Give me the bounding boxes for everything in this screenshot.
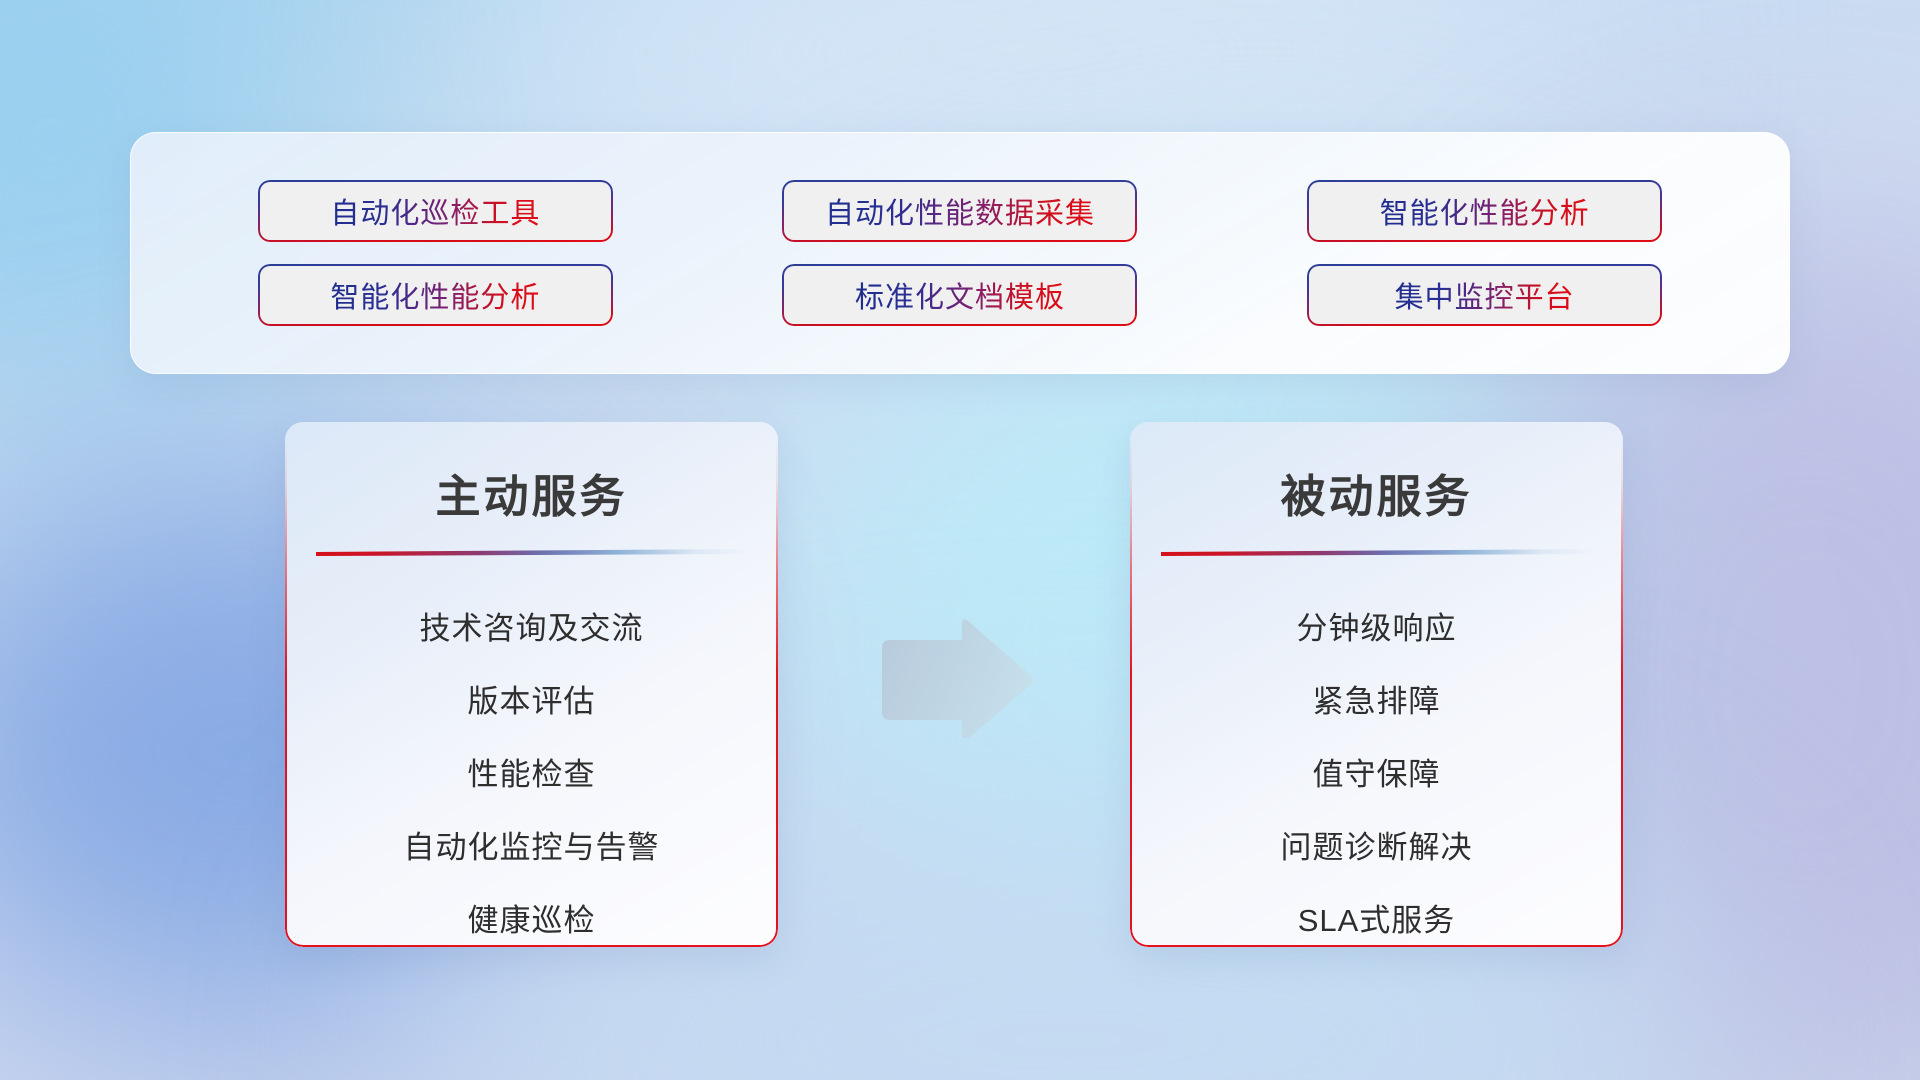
capability-pill-label: 智能化性能分析 xyxy=(1380,190,1590,232)
arrow-right-icon xyxy=(878,618,1036,738)
service-item: 技术咨询及交流 xyxy=(305,592,758,665)
service-item: 分钟级响应 xyxy=(1150,592,1603,665)
capability-pill[interactable]: 集中监控平台 xyxy=(1307,264,1662,326)
service-item: 值守保障 xyxy=(1150,738,1603,811)
card-divider xyxy=(316,549,748,556)
card-title: 主动服务 xyxy=(305,460,758,525)
service-item: 紧急排障 xyxy=(1150,665,1603,738)
capability-pill-label: 自动化巡检工具 xyxy=(330,190,540,232)
service-item: 问题诊断解决 xyxy=(1150,811,1603,884)
service-card-reactive: 被动服务 分钟级响应 紧急排障 值守保障 问题诊断解决 SLA式服务 xyxy=(1130,422,1623,947)
service-card-proactive: 主动服务 技术咨询及交流 版本评估 性能检查 自动化监控与告警 健康巡检 xyxy=(285,422,778,947)
service-item-list: 技术咨询及交流 版本评估 性能检查 自动化监控与告警 健康巡检 xyxy=(305,592,758,947)
capability-pill-label: 集中监控平台 xyxy=(1395,274,1575,316)
capability-pill[interactable]: 智能化性能分析 xyxy=(1307,180,1662,242)
service-item: 自动化监控与告警 xyxy=(305,811,758,884)
service-item: 健康巡检 xyxy=(305,884,758,947)
capability-pill-label: 自动化性能数据采集 xyxy=(825,190,1095,232)
service-item: 版本评估 xyxy=(305,665,758,738)
capability-pill[interactable]: 自动化性能数据采集 xyxy=(782,180,1137,242)
service-item-list: 分钟级响应 紧急排障 值守保障 问题诊断解决 SLA式服务 xyxy=(1150,592,1603,947)
capability-pill-label: 标准化文档模板 xyxy=(855,274,1065,316)
card-title: 被动服务 xyxy=(1150,460,1603,525)
service-item: 性能检查 xyxy=(305,738,758,811)
capability-pill[interactable]: 标准化文档模板 xyxy=(782,264,1137,326)
capability-tags-panel: 自动化巡检工具 自动化性能数据采集 智能化性能分析 智能化性能分析 标准化文档模… xyxy=(130,132,1790,374)
service-item: SLA式服务 xyxy=(1150,884,1603,947)
capability-pill-label: 智能化性能分析 xyxy=(330,274,540,316)
capability-pill[interactable]: 自动化巡检工具 xyxy=(258,180,613,242)
capability-pill[interactable]: 智能化性能分析 xyxy=(258,264,613,326)
card-divider xyxy=(1161,549,1593,556)
